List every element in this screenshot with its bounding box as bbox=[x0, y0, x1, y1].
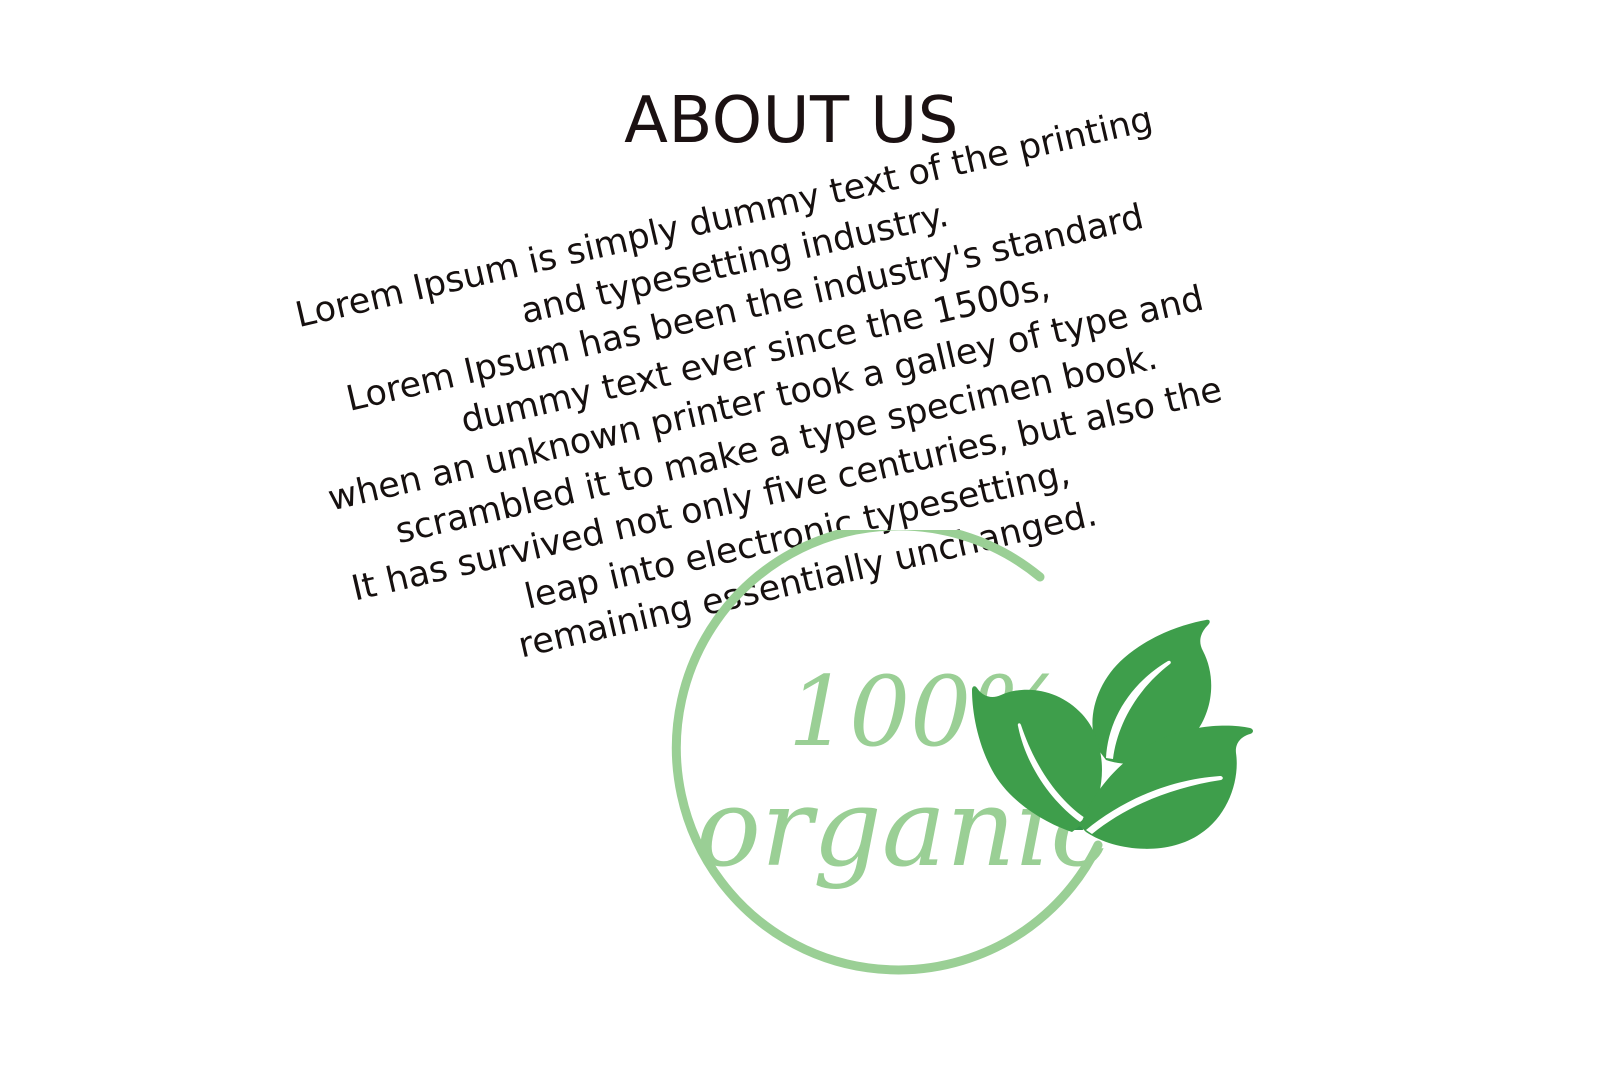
organic-badge: 100% organic bbox=[628, 530, 1288, 1030]
page-canvas: ABOUT US Lorem Ipsum is simply dummy tex… bbox=[0, 0, 1623, 1080]
page-title: ABOUT US bbox=[0, 88, 1583, 155]
